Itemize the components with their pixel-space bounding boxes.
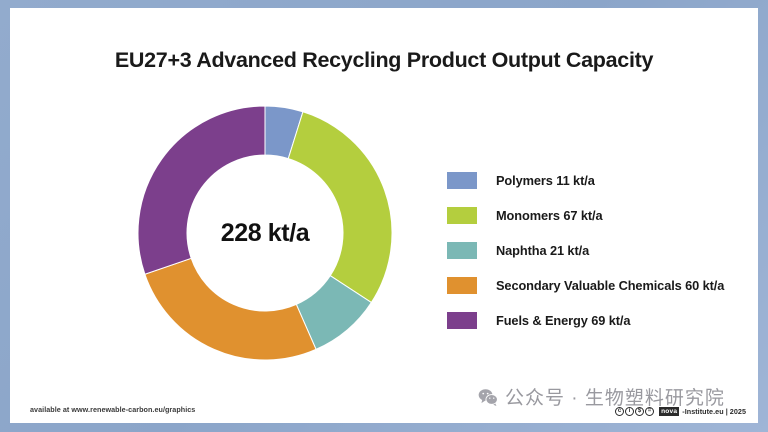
- donut-svg: [137, 105, 393, 361]
- legend-item-fuels-energy[interactable]: Fuels & Energy 69 kt/a: [437, 303, 747, 338]
- donut-segment-fuels-energy[interactable]: [138, 106, 265, 274]
- legend-label-secondary-valuable-chemicals: Secondary Valuable Chemicals 60 kt/a: [496, 278, 724, 293]
- donut-segment-monomers[interactable]: [288, 112, 392, 303]
- legend-item-secondary-valuable-chemicals[interactable]: Secondary Valuable Chemicals 60 kt/a: [437, 268, 747, 303]
- watermark: 公众号 · 生物塑料研究院: [478, 383, 725, 410]
- legend-swatch-naphtha: [447, 242, 477, 259]
- legend-item-monomers[interactable]: Monomers 67 kt/a: [437, 198, 747, 233]
- donut-segments: [138, 106, 392, 360]
- watermark-text: 公众号 · 生物塑料研究院: [505, 383, 725, 410]
- legend-label-naphtha: Naphtha 21 kt/a: [496, 243, 589, 258]
- legend-swatch-monomers: [447, 207, 477, 224]
- cc-nc-icon: $: [635, 407, 644, 416]
- attribution-text: -Institute.eu | 2025: [682, 407, 746, 416]
- legend-label-polymers: Polymers 11 kt/a: [496, 173, 595, 188]
- source-note[interactable]: available at www.renewable-carbon.eu/gra…: [30, 405, 195, 414]
- cc-icon: c: [615, 407, 624, 416]
- cc-nd-icon: =: [645, 407, 654, 416]
- slide-frame: EU27+3 Advanced Recycling Product Output…: [0, 0, 768, 432]
- attribution: c i $ = nova -Institute.eu | 2025: [615, 407, 746, 416]
- wechat-icon: [478, 388, 498, 406]
- legend-label-monomers: Monomers 67 kt/a: [496, 208, 603, 223]
- legend-swatch-secondary-valuable-chemicals: [447, 277, 477, 294]
- nova-logo: nova: [659, 407, 679, 416]
- chart-card: EU27+3 Advanced Recycling Product Output…: [10, 8, 758, 423]
- creative-commons-icons: c i $ =: [615, 407, 654, 416]
- legend-item-polymers[interactable]: Polymers 11 kt/a: [437, 163, 747, 198]
- legend-label-fuels-energy: Fuels & Energy 69 kt/a: [496, 313, 630, 328]
- page-title: EU27+3 Advanced Recycling Product Output…: [10, 48, 758, 73]
- cc-by-icon: i: [625, 407, 634, 416]
- donut-chart: 228 kt/a: [137, 105, 393, 361]
- chart-legend: Polymers 11 kt/a Monomers 67 kt/a Naphth…: [437, 163, 747, 338]
- legend-item-naphtha[interactable]: Naphtha 21 kt/a: [437, 233, 747, 268]
- donut-segment-secondary-valuable-chemicals[interactable]: [145, 258, 316, 360]
- legend-swatch-fuels-energy: [447, 312, 477, 329]
- legend-swatch-polymers: [447, 172, 477, 189]
